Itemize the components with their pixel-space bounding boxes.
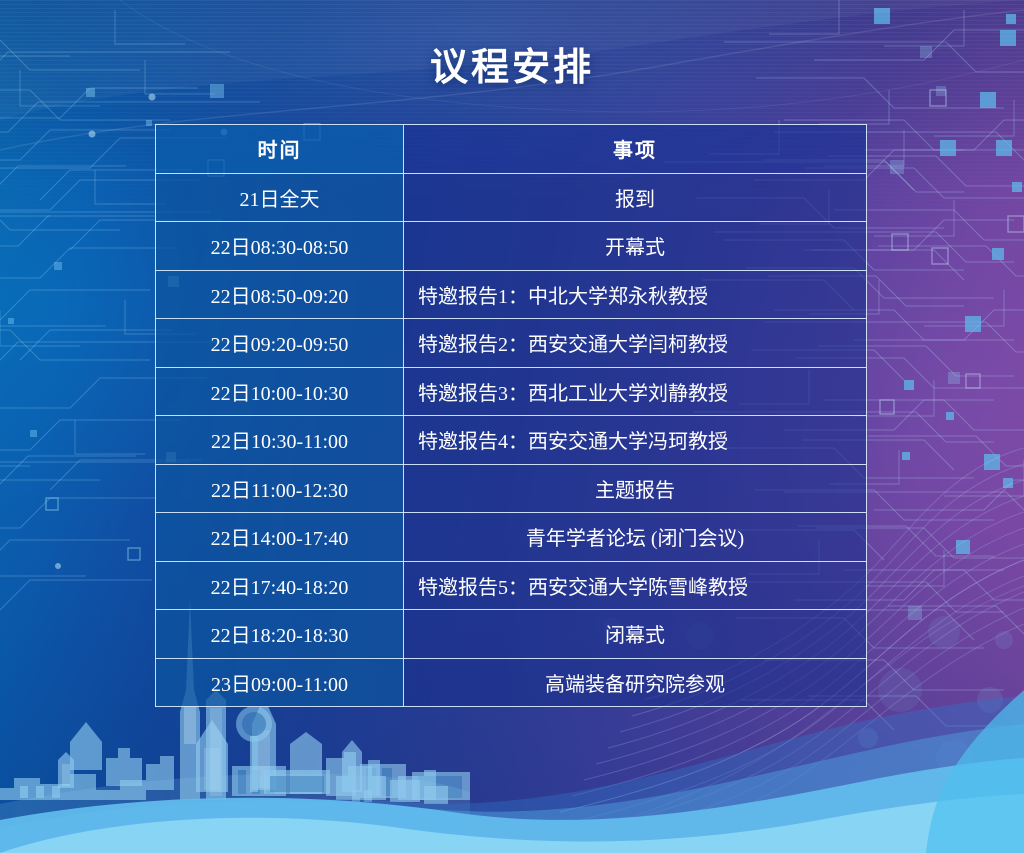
header-item: 事项 [404,125,867,174]
cell-item: 青年学者论坛 (闭门会议) [404,513,867,562]
page-title: 议程安排 [0,36,1024,91]
cell-time: 21日全天 [156,173,404,222]
cell-item: 特邀报告1：中北大学郑永秋教授 [404,270,867,319]
cell-item: 高端装备研究院参观 [404,658,867,707]
cell-time: 22日11:00-12:30 [156,464,404,513]
cell-item: 开幕式 [404,222,867,271]
table-row: 21日全天报到 [156,173,867,222]
table-row: 22日08:50-09:20特邀报告1：中北大学郑永秋教授 [156,270,867,319]
table-row: 22日11:00-12:30主题报告 [156,464,867,513]
table-row: 22日14:00-17:40青年学者论坛 (闭门会议) [156,513,867,562]
agenda-table: 时间 事项 21日全天报到22日08:30-08:50开幕式22日08:50-0… [155,124,867,707]
cell-item: 报到 [404,173,867,222]
cell-item: 闭幕式 [404,610,867,659]
cell-item: 特邀报告5：西安交通大学陈雪峰教授 [404,561,867,610]
table-row: 22日10:00-10:30特邀报告3：西北工业大学刘静教授 [156,367,867,416]
cell-item: 特邀报告4：西安交通大学冯珂教授 [404,416,867,465]
poster-canvas: 议程安排 时间 事项 21日全天报到22日08:30-08:50开幕式22日08… [0,0,1024,853]
cell-item: 特邀报告3：西北工业大学刘静教授 [404,367,867,416]
cell-time: 22日10:30-11:00 [156,416,404,465]
cell-time: 22日10:00-10:30 [156,367,404,416]
cell-item: 主题报告 [404,464,867,513]
cell-time: 22日18:20-18:30 [156,610,404,659]
cell-time: 23日09:00-11:00 [156,658,404,707]
cell-time: 22日17:40-18:20 [156,561,404,610]
table-row: 22日08:30-08:50开幕式 [156,222,867,271]
table-row: 22日10:30-11:00特邀报告4：西安交通大学冯珂教授 [156,416,867,465]
cell-item: 特邀报告2：西安交通大学闫柯教授 [404,319,867,368]
cell-time: 22日14:00-17:40 [156,513,404,562]
table-row: 22日18:20-18:30闭幕式 [156,610,867,659]
cell-time: 22日08:30-08:50 [156,222,404,271]
header-time: 时间 [156,125,404,174]
table-row: 22日09:20-09:50特邀报告2：西安交通大学闫柯教授 [156,319,867,368]
table-header-row: 时间 事项 [156,125,867,174]
cell-time: 22日09:20-09:50 [156,319,404,368]
table-row: 23日09:00-11:00高端装备研究院参观 [156,658,867,707]
cell-time: 22日08:50-09:20 [156,270,404,319]
table-row: 22日17:40-18:20特邀报告5：西安交通大学陈雪峰教授 [156,561,867,610]
